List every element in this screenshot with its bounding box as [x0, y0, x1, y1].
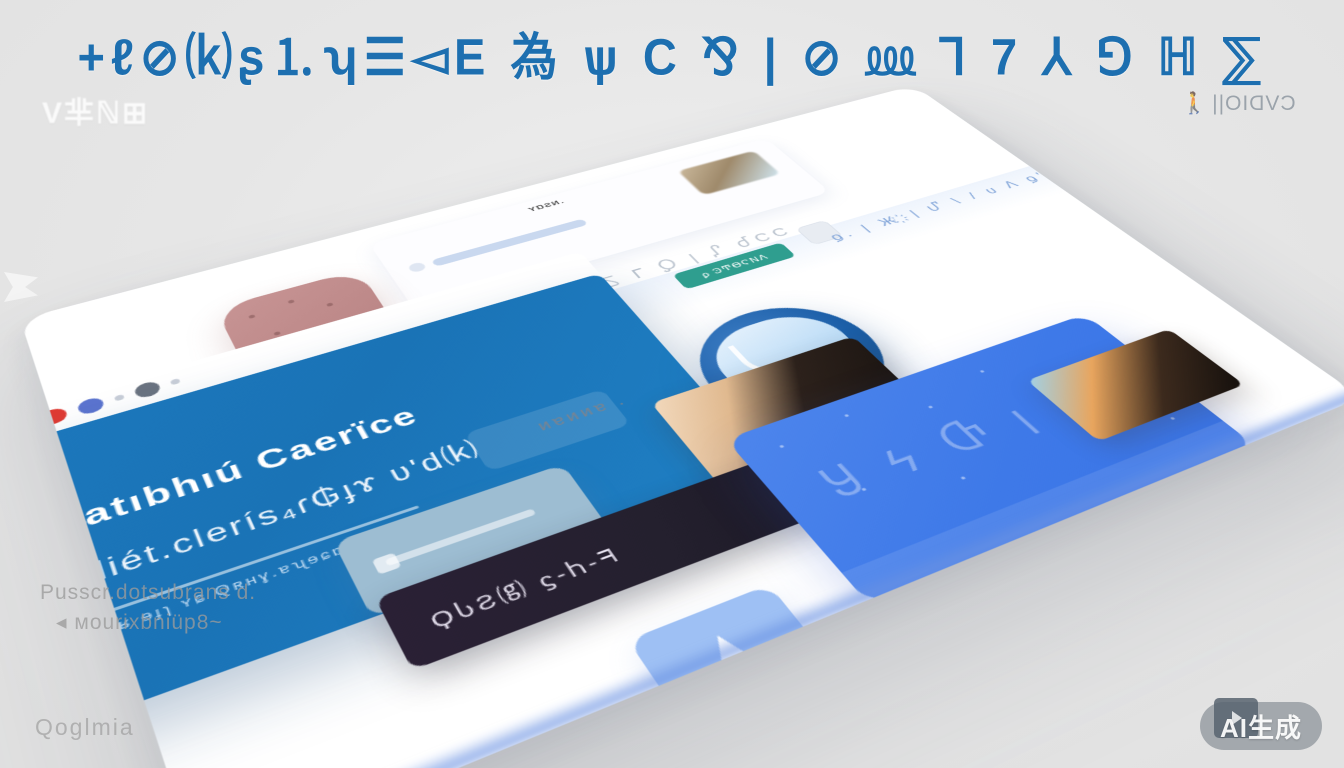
card-5g-small-text: ԀՐ Ⴠ ԀԐ Ⴝ Ⴤ Ⴖ [1088, 503, 1191, 552]
ai-generated-badge-label: AI生成 [1220, 708, 1302, 745]
brand-mark: Qoglmia [35, 714, 135, 741]
top-card-label: ʏɒƨᴎ. [525, 197, 567, 214]
dot-teal-icon[interactable] [20, 417, 31, 438]
dot-violet-icon[interactable] [76, 396, 106, 417]
mockup-page-sheet: ʏɒƨᴎ. ϽϽႦ Ⴂ | Ⴍ ⅂ 乙 ϼ ϿͲϴϚΝΛ ϛϘ ƅՆᎠ ʏʃϙ … [20, 85, 1344, 768]
watermark-bottom-paragraph: Pusscr.dotsubrans d. ◂ моurixbniüp8~ [40, 578, 256, 638]
right-side-glyph-text: ɀ'ϱ Λ ᴜ \ / Ⴠ | ҉Ж | .ϱ [822, 168, 1060, 245]
watermark-bottom-line-2: ◂ моurixbniüp8~ [40, 608, 256, 638]
ai-generated-badge: AI生成 [1200, 702, 1322, 750]
card-big-blue-watermark: Ⴘ ϟ Ⴇ ꞁ [813, 396, 1054, 507]
canvas-stage: +ℓ⊘⒦ʂ⒈ʮ☰◅E 為 ѱ C ⅋ | ⊘ ⅏ ⅂ 7 ⅄ ⅁ ℍ ⅀ V芈ℕ… [0, 0, 1344, 768]
dot-lite-3-icon [170, 378, 181, 385]
card-5g[interactable]: ԀՐ Ⴠ ԀԐ Ⴝ Ⴤ Ⴖ 5G [1049, 473, 1313, 638]
dot-gray-icon[interactable] [133, 380, 163, 400]
image-thumbnail [678, 151, 781, 196]
card-arrow-tile[interactable] [628, 584, 834, 727]
mockup-scene: ʏɒƨᴎ. ϽϽႦ Ⴂ | Ⴍ ⅂ 乙 ϼ ϿͲϴϚΝΛ ϛϘ ƅՆᎠ ʏʃϙ … [0, 0, 1344, 768]
dot-lite-2-icon [114, 394, 125, 401]
card-5g-big-text: 5G [1117, 531, 1237, 607]
cursor-arrow-icon [693, 624, 767, 682]
top-card-dot-icon [407, 261, 427, 273]
watermark-bottom-line-1: Pusscr.dotsubrans d. [40, 581, 256, 604]
dot-red-icon[interactable] [39, 406, 69, 427]
